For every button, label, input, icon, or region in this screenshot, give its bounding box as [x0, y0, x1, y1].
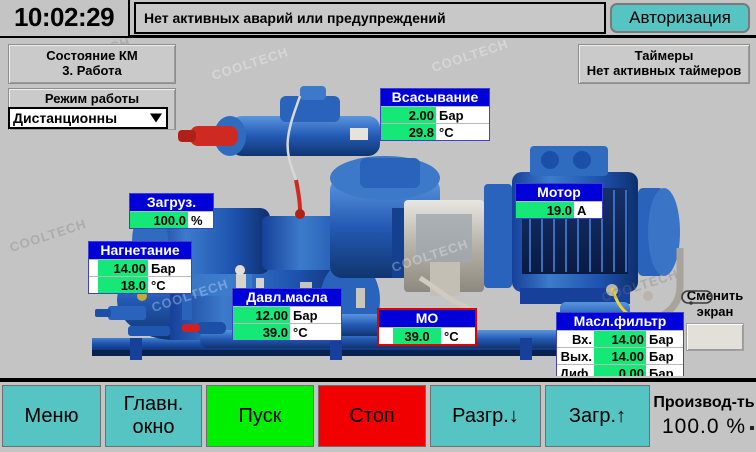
load-readout: Загруз. 100.0 % [129, 193, 214, 229]
mo-readout: МО 39.0 °C [377, 308, 477, 346]
suction-pressure-row: 2.00 Бар [381, 106, 489, 123]
oil-filter-in-unit: Бар [646, 331, 683, 347]
oil-filter-row: Вых. 14.00 Бар [557, 347, 683, 364]
main-window-label-line2: окно [124, 416, 184, 439]
operating-mode-select[interactable]: Дистанционны [8, 107, 168, 129]
oil-temp-value: 39.0 [233, 324, 290, 340]
spacer [89, 260, 98, 276]
header-bar: 10:02:29 Нет активных аварий или предупр… [0, 0, 756, 38]
oil-filter-out-unit: Бар [646, 348, 683, 364]
main-window-label-line1: Главн. [124, 393, 184, 416]
alarm-status-bar: Нет активных аварий или предупреждений [134, 2, 606, 34]
motor-current-row: 19.0 A [516, 201, 602, 218]
oil-filter-out-label: Вых. [557, 348, 594, 364]
load-value: 100.0 [130, 212, 188, 228]
oil-filter-row: Вх. 14.00 Бар [557, 330, 683, 347]
oil-filter-in-value: 14.00 [594, 331, 646, 347]
timers-value: Нет активных таймеров [579, 63, 749, 78]
oil-temp-unit: °C [290, 324, 341, 340]
km-state-title: Состояние КМ [9, 48, 175, 63]
unload-button[interactable]: Разгр.↓ [430, 385, 541, 447]
oil-pressure-value: 12.00 [233, 307, 290, 323]
discharge-pressure-value: 14.00 [98, 260, 148, 276]
screen-swap-icon [679, 288, 715, 306]
capacity-indicator: Производ-ть 100.0 % [652, 385, 756, 447]
authorization-button[interactable]: Авторизация [610, 3, 750, 33]
motor-readout: Мотор 19.0 A [515, 183, 603, 219]
suction-temp-value: 29.8 [381, 124, 436, 140]
discharge-temp-row: 18.0 °C [89, 276, 191, 293]
load-title: Загруз. [130, 194, 213, 211]
oil-filter-diff-unit: Бар [646, 365, 683, 376]
discharge-temp-value: 18.0 [98, 277, 148, 293]
discharge-pressure-unit: Бар [148, 260, 191, 276]
oil-filter-in-label: Вх. [557, 331, 594, 347]
mo-row: 39.0 °C [379, 327, 475, 344]
motor-current-unit: A [574, 202, 602, 218]
discharge-readout: Нагнетание 14.00 Бар 18.0 °C [88, 241, 192, 294]
change-screen-label-line2: экран [679, 304, 751, 320]
load-up-button[interactable]: Загр.↑ [545, 385, 650, 447]
oil-filter-title: Масл.фильтр [557, 313, 683, 330]
motor-title: Мотор [516, 184, 602, 201]
oil-filter-diff-label: Диф. [557, 365, 594, 376]
spacer [89, 277, 98, 293]
main-window-button[interactable]: Главн. окно [105, 385, 202, 447]
machine-graphic-area: COOLTECH COOLTECH COOLTECH COOLTECH COOL… [0, 38, 756, 376]
oil-pressure-unit: Бар [290, 307, 341, 323]
mo-title: МО [379, 310, 475, 327]
hmi-screen: 10:02:29 Нет активных аварий или предупр… [0, 0, 756, 452]
timers-title: Таймеры [579, 48, 749, 63]
motor-current-value: 19.0 [516, 202, 574, 218]
suction-temp-row: 29.8 °C [381, 123, 489, 140]
operating-mode-title: Режим работы [9, 91, 175, 106]
capacity-title: Производ-ть [653, 392, 754, 414]
oil-filter-diff-value: 0.00 [594, 365, 646, 376]
operating-mode-value: Дистанционны [13, 110, 117, 126]
suction-temp-unit: °C [436, 124, 489, 140]
suction-pressure-unit: Бар [436, 107, 489, 123]
chevron-down-icon[interactable] [150, 114, 162, 123]
load-unit: % [188, 212, 213, 228]
oil-pressure-row: 12.00 Бар [233, 306, 341, 323]
km-state-value: 3. Работа [9, 63, 175, 78]
oil-pressure-title: Давл.масла [233, 289, 341, 306]
discharge-pressure-row: 14.00 Бар [89, 259, 191, 276]
oil-pressure-readout: Давл.масла 12.00 Бар 39.0 °C [232, 288, 342, 341]
change-screen-button[interactable] [686, 323, 744, 351]
oil-filter-row: Диф. 0.00 Бар [557, 364, 683, 376]
mo-unit: °C [441, 328, 475, 344]
menu-button[interactable]: Меню [2, 385, 101, 447]
oil-filter-out-value: 14.00 [594, 348, 646, 364]
suction-title: Всасывание [381, 89, 489, 106]
load-row: 100.0 % [130, 211, 213, 228]
discharge-title: Нагнетание [89, 242, 191, 259]
capacity-value: 100.0 % [662, 414, 746, 440]
suction-readout: Всасывание 2.00 Бар 29.8 °C [380, 88, 490, 141]
clock: 10:02:29 [0, 0, 130, 36]
edge-indicator-dot [750, 426, 754, 430]
oil-filter-readout: Масл.фильтр Вх. 14.00 Бар Вых. 14.00 Бар… [556, 312, 684, 376]
oil-temp-row: 39.0 °C [233, 323, 341, 340]
timers-panel: Таймеры Нет активных таймеров [578, 44, 750, 84]
discharge-temp-unit: °C [148, 277, 191, 293]
change-screen-control[interactable]: Сменить экран [679, 288, 751, 351]
stop-button[interactable]: Стоп [318, 385, 426, 447]
km-state-panel: Состояние КМ 3. Работа [8, 44, 176, 84]
suction-pressure-value: 2.00 [381, 107, 436, 123]
start-button[interactable]: Пуск [206, 385, 314, 447]
mo-value: 39.0 [393, 328, 441, 344]
spacer [379, 328, 393, 344]
bottom-toolbar: Меню Главн. окно Пуск Стоп Разгр.↓ Загр.… [0, 378, 756, 452]
